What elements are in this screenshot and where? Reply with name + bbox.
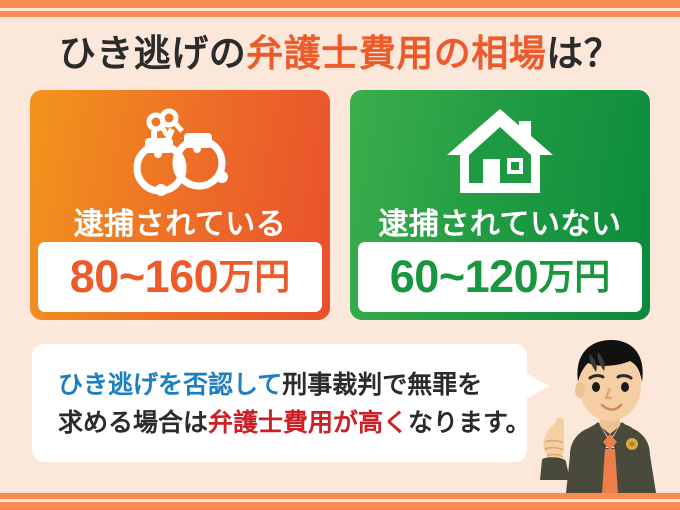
bottom-border-thick — [0, 502, 680, 510]
speech-bubble: ひき逃げを否認して刑事裁判で無罪を 求める場合は弁護士費用が高くなります。 — [32, 344, 527, 462]
card-arrested: 逮捕されている 80~160万円 — [30, 90, 330, 320]
bubble-line-2: 求める場合は弁護士費用が高くなります。 — [58, 406, 518, 440]
price-unit-not-arrested: 万円 — [538, 251, 610, 303]
bubble-line-1: ひき逃げを否認して刑事裁判で無罪を — [58, 368, 518, 402]
price-strip-arrested: 80~160万円 — [38, 242, 322, 312]
top-border-thin — [0, 11, 680, 17]
price-number-arrested: 80~160 — [70, 251, 218, 303]
title-part-2: は？ — [546, 33, 621, 74]
bubble-line-2-highlight: 弁護士費用が高く — [208, 409, 408, 437]
handcuffs-icon — [30, 102, 330, 200]
bubble-line-1-rest: 刑事裁判で無罪を — [282, 371, 482, 399]
price-number-not-arrested: 60~120 — [390, 251, 538, 303]
card-label-arrested: 逮捕されている — [30, 204, 330, 246]
card-label-not-arrested: 逮捕されていない — [350, 204, 650, 246]
lawyer-illustration — [540, 330, 680, 493]
price-strip-not-arrested: 60~120万円 — [358, 242, 642, 312]
page-title: ひき逃げの弁護士費用の相場は？ — [0, 28, 680, 80]
bubble-line-1-highlight: ひき逃げを否認して — [58, 371, 282, 399]
title-part-1: ひき逃げの — [59, 33, 247, 74]
house-icon — [350, 102, 650, 200]
price-unit-arrested: 万円 — [218, 251, 290, 303]
bubble-line-2-after: なります。 — [408, 409, 531, 437]
title-highlight: 弁護士費用の相場 — [246, 33, 546, 74]
bubble-line-2-before: 求める場合は — [58, 409, 208, 437]
infographic-root: ひき逃げの弁護士費用の相場は？ — [0, 0, 680, 510]
top-border-thick — [0, 0, 680, 8]
card-not-arrested: 逮捕されていない 60~120万円 — [350, 90, 650, 320]
bottom-border-thin — [0, 493, 680, 499]
